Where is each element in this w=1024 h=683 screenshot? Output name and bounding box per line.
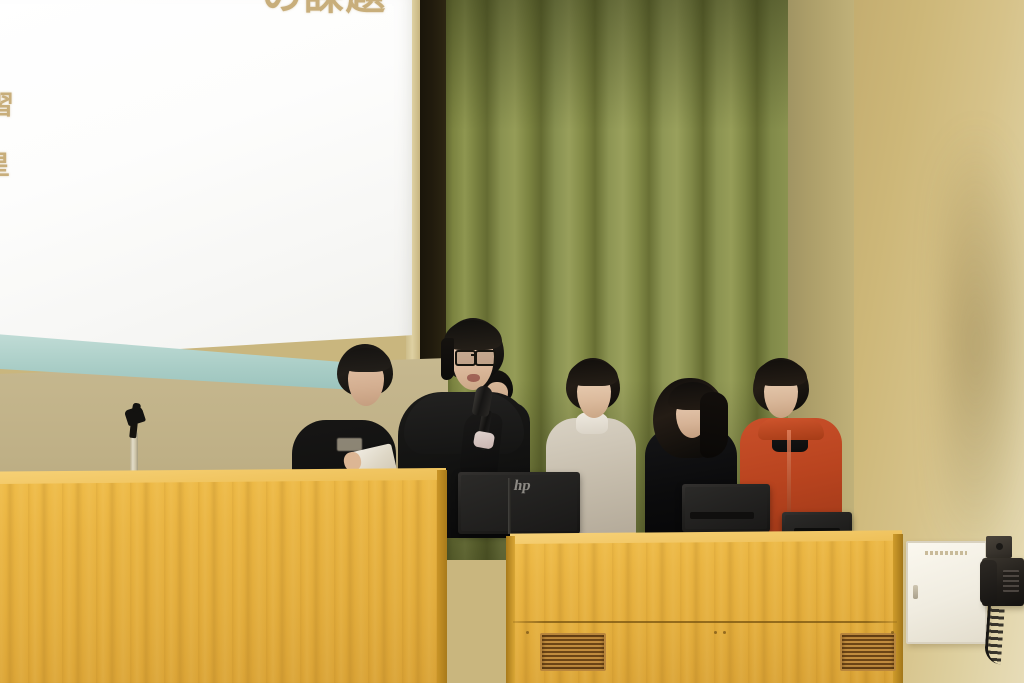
- glasses-lens-left-icon: [455, 350, 476, 366]
- projection-screen: の課題 習 星: [0, 0, 412, 360]
- glasses-lens-right-icon: [475, 350, 496, 366]
- telephone-keypad-icon[interactable]: [1003, 570, 1019, 592]
- right-podium-left-edge: [506, 536, 515, 683]
- jacket-collar: [758, 418, 824, 440]
- left-podium-side-edge: [437, 470, 447, 683]
- telephone-handset[interactable]: [980, 560, 997, 604]
- wall-control-panel[interactable]: [906, 541, 987, 644]
- slide-title-text: の課題: [262, 0, 387, 16]
- podium-vent-right: [840, 633, 896, 671]
- left-podium: [0, 468, 446, 683]
- monitor-center: [682, 484, 770, 532]
- shirt-print: [337, 438, 362, 451]
- monitor-screen: [685, 487, 767, 529]
- podium-screw: [714, 631, 717, 634]
- shirt-cuff: [473, 430, 495, 449]
- slide-line1-text: 習: [0, 92, 15, 118]
- hair-side: [700, 392, 728, 458]
- control-panel-latch[interactable]: [913, 585, 918, 599]
- monitor-left-stand: [508, 478, 511, 534]
- podium-vent-left: [540, 633, 606, 671]
- podium-screw: [891, 631, 894, 634]
- monitor-center-base: [690, 512, 754, 519]
- lecture-hall-photo: の課題 習 星: [0, 0, 1024, 683]
- podium-screw: [723, 631, 726, 634]
- mouth: [467, 374, 480, 382]
- telephone-wall-plate: [986, 536, 1012, 558]
- control-panel-label: [925, 551, 967, 555]
- right-podium-seam: [513, 621, 897, 623]
- hair-sidelock: [441, 338, 454, 380]
- curtain-top-shading: [443, 0, 788, 130]
- slide-line2-text: 星: [0, 152, 11, 178]
- glasses-bridge-icon: [471, 354, 477, 356]
- hp-logo-icon: hp: [513, 478, 532, 494]
- podium-screw: [526, 631, 529, 634]
